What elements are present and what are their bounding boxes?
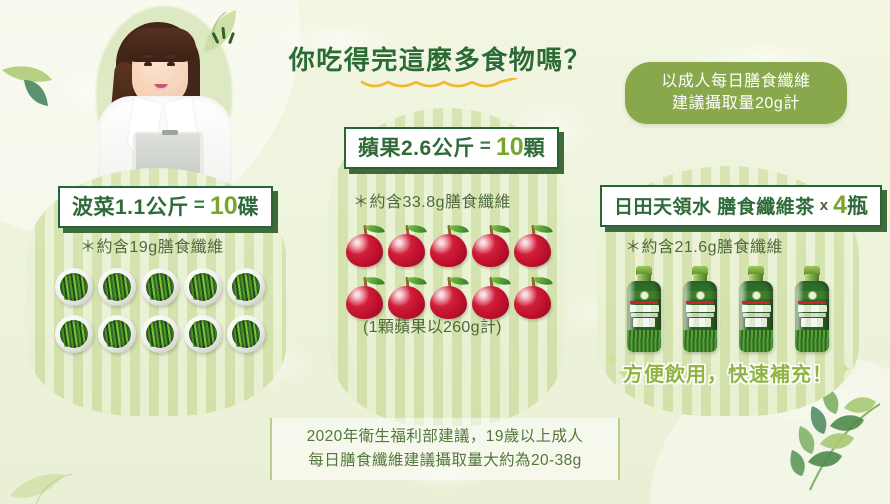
eyebrow-left [142,55,153,58]
spinach-count: 10 [210,192,238,221]
callout-line-1: 以成人每日膳食纖維 [661,71,810,93]
plate-of-spinach [227,315,265,353]
bottle-seal-icon [752,291,761,300]
bottle-unit: 瓶 [847,190,868,220]
apple-icon [429,222,469,268]
apple-icon [471,222,511,268]
apple-unit: 顆 [524,132,545,162]
footer-line-2: 每日膳食纖維建議攝取量大約為20-38g [308,449,581,473]
bottle-brand-text [686,305,715,312]
spinach-plate-grid [55,268,263,353]
bottle-grass-art [795,330,829,352]
footer-line-1: 2020年衛生福利部建議，19歲以上成人 [307,425,584,449]
plate-of-spinach [184,315,222,353]
apple-equals: = [480,136,491,158]
avatar-nutritionist [94,8,236,190]
footer-reference-note: 2020年衛生福利部建議，19歲以上成人 每日膳食纖維建議攝取量大約為20-38… [270,418,620,480]
bottle-sub-text [687,313,714,317]
bottle-product-text [633,318,655,327]
bottle-label [627,291,661,327]
bottle-count: 4 [833,191,847,220]
bottle-sub-text [743,313,770,317]
bottle-subject: 日田天領水 膳食纖維茶 [614,192,815,219]
bottle-brand-text [798,305,827,312]
bottle-product-text [745,318,767,327]
card-spinach-subtitle: ＊約含19g膳食纖維 [80,233,224,257]
bottle-grass-art [683,330,717,352]
spinach-equals: = [194,195,205,217]
bottle-red-band [686,301,714,304]
bottle-product-text [689,318,711,327]
plate-of-spinach [184,268,222,306]
fiber-tea-bottle [793,266,831,352]
card-fiber-tea-label: 日田天領水 膳食纖維茶 x 4 瓶 [600,185,882,227]
bottle-label [795,291,829,327]
bottle-grass-art [627,330,661,352]
bottle-body [683,281,717,352]
fiber-tea-bottle [625,266,663,352]
apple-icon [345,222,385,268]
eye-left [144,62,152,66]
callout-line-2: 建議攝取量20g計 [672,93,800,115]
fiber-tea-bottle [737,266,775,352]
bottle-brand-text [630,305,659,312]
apple-count: 10 [496,133,524,162]
bottle-red-band [742,301,770,304]
bangs [126,28,196,62]
plate-of-spinach [141,268,179,306]
bottle-sub-text [631,313,658,317]
bottle-seal-icon [696,291,705,300]
bottle-grass-art [739,330,773,352]
apple-icon [513,274,553,320]
card-fiber-tea-subtitle: ＊約含21.6g膳食纖維 [625,233,783,257]
apple-icon [513,222,553,268]
title-underline-wave-icon [360,78,520,90]
bottle-multiplier: x [820,197,828,214]
card-fiber-tea-cta: 方便飲用，快速補充！ [604,358,852,387]
bottle-label [683,291,717,327]
bottle-body [739,281,773,352]
apple-icon [387,222,427,268]
bottle-red-band [630,301,658,304]
bottle-product-text [801,318,823,327]
page-title: 你吃得完這麼多食物嗎？ [258,40,622,77]
bottle-body [795,281,829,352]
card-spinach-label: 波菜1.1公斤 = 10 碟 [58,186,273,228]
bottle-row [625,266,831,352]
bottle-brand-text [742,305,771,312]
card-apple-note: (1顆蘋果以260g計) [363,313,502,337]
apple-subject: 蘋果2.6公斤 [358,132,475,162]
card-apple-subtitle: ＊約含33.8g膳食纖維 [353,188,511,212]
bottle-seal-icon [808,291,817,300]
plate-of-spinach [55,268,93,306]
sparkle-icon-right: ✦ [838,360,851,378]
spinach-unit: 碟 [238,191,259,221]
apple-grid [345,222,551,320]
eyebrow-right [165,55,176,58]
bottle-body [627,281,661,352]
bottle-red-band [798,301,826,304]
page-title-block: 你吃得完這麼多食物嗎？ [258,40,622,90]
plate-of-spinach [55,315,93,353]
clipboard-clip [162,130,178,135]
bottle-label [739,291,773,327]
daily-fiber-basis-callout: 以成人每日膳食纖維 建議攝取量20g計 [625,62,847,124]
fiber-tea-bottle [681,266,719,352]
bottle-sub-text [799,313,826,317]
bottle-seal-icon [640,291,649,300]
plate-of-spinach [227,268,265,306]
card-apple-label: 蘋果2.6公斤 = 10 顆 [344,127,559,169]
plate-of-spinach [98,268,136,306]
plate-of-spinach [141,315,179,353]
infographic-canvas: 你吃得完這麼多食物嗎？ 以成人每日膳食纖維 建議攝取量20g計 波菜1.1公斤 … [0,0,890,504]
spinach-subject: 波菜1.1公斤 [72,191,189,221]
eye-right [167,62,175,66]
sparkle-lines-icon [212,26,236,48]
plate-of-spinach [98,315,136,353]
